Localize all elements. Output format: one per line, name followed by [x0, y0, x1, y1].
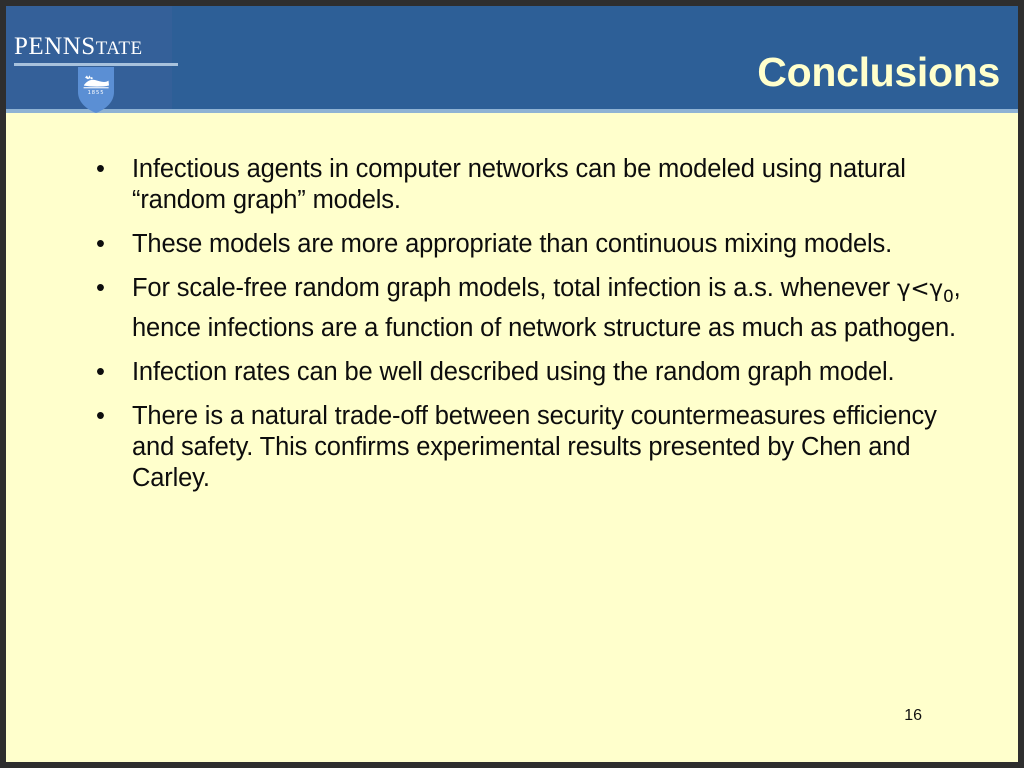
list-item-text: For scale-free random graph models, tota… — [132, 273, 968, 344]
bullet-list: • Infectious agents in computer networks… — [88, 154, 968, 494]
list-item-text: These models are more appropriate than c… — [132, 229, 968, 260]
list-item: • For scale-free random graph models, to… — [88, 273, 968, 344]
greek-gamma-inequality: γ<γ — [897, 276, 943, 302]
list-item-text-part: For scale-free random graph models, tota… — [132, 274, 897, 302]
list-item-text: There is a natural trade-off between sec… — [132, 401, 968, 494]
wordmark-tate: TATE — [96, 38, 143, 59]
presentation-slide: PENNSTATE 1855 Conclusions • Infectious … — [0, 0, 1024, 768]
bullet-marker-icon: • — [96, 229, 110, 260]
wordmark-penn: PENN — [14, 33, 81, 60]
slide-page-number: 16 — [904, 708, 922, 724]
bullet-marker-icon: • — [96, 401, 110, 432]
bullet-marker-icon: • — [96, 154, 110, 185]
wordmark-s: S — [81, 33, 95, 60]
slide-header: PENNSTATE 1855 Conclusions — [6, 6, 1018, 113]
list-item: • Infectious agents in computer networks… — [88, 154, 968, 216]
slide-body: • Infectious agents in computer networks… — [6, 113, 1018, 762]
pennstate-wordmark: PENNSTATE — [14, 34, 143, 59]
list-item-text: Infection rates can be well described us… — [132, 357, 968, 388]
list-item-text: Infectious agents in computer networks c… — [132, 154, 968, 216]
list-item: • Infection rates can be well described … — [88, 357, 968, 388]
list-item: • These models are more appropriate than… — [88, 229, 968, 260]
greek-gamma-subscript: 0 — [943, 287, 954, 307]
pennstate-shield-icon: 1855 — [76, 66, 116, 114]
page-title: Conclusions — [757, 52, 1000, 93]
list-item: • There is a natural trade-off between s… — [88, 401, 968, 494]
bullet-marker-icon: • — [96, 357, 110, 388]
shield-year-text: 1855 — [88, 90, 105, 96]
bullet-marker-icon: • — [96, 273, 110, 304]
